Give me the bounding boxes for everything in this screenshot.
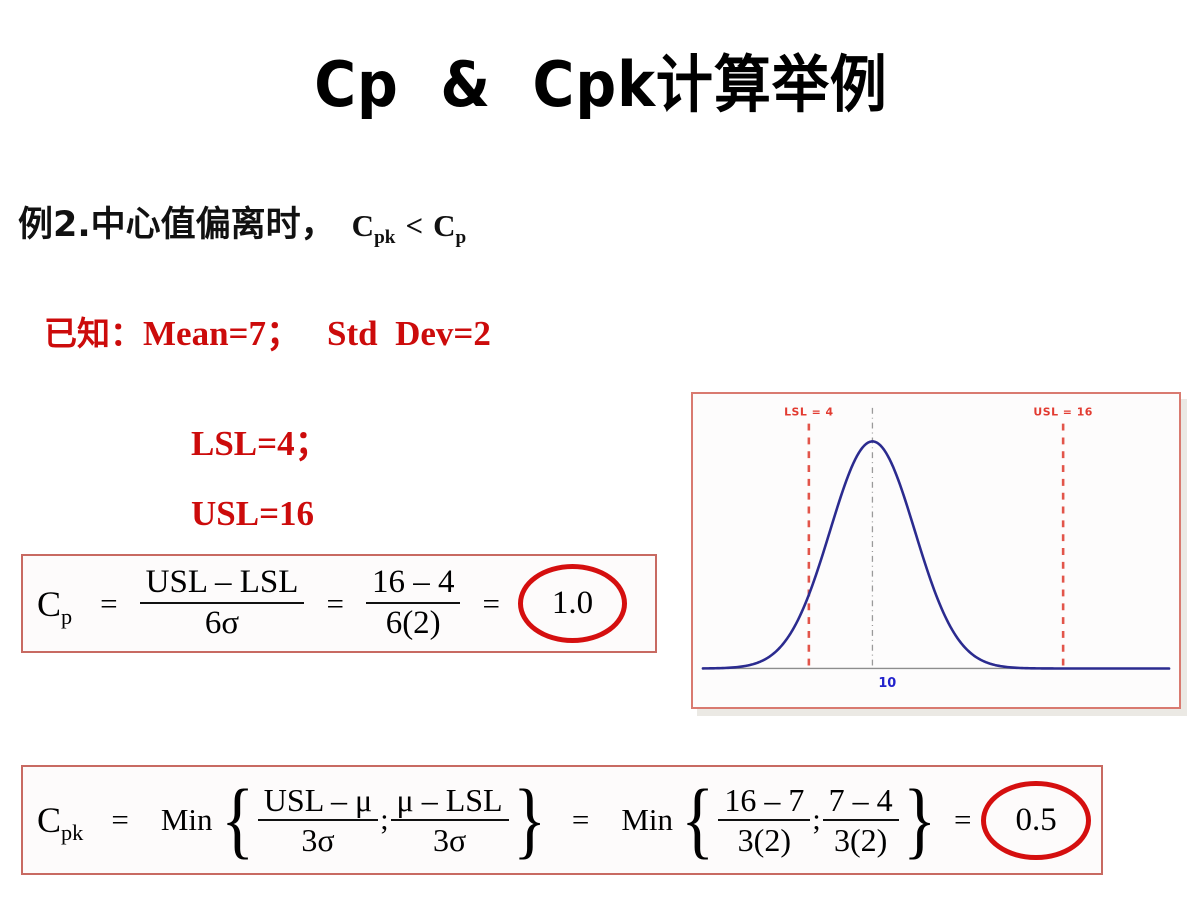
cp-result-circled: 1.0 — [522, 579, 623, 628]
cp-subscript: p — [456, 227, 467, 248]
equals-sign-1: = — [78, 586, 139, 622]
brace-close-2: } — [903, 789, 936, 851]
cpk-formula-box: Cpk = Min { USL – μ 3σ ; μ – LSL 3σ } = … — [21, 765, 1103, 875]
brace-open-1: { — [221, 789, 254, 851]
given-lsl: LSL=4； — [191, 424, 330, 463]
given-row-limits: LSL=4； USL=16 — [44, 391, 491, 566]
normal-distribution-chart: LSL = 4 USL = 16 10 — [693, 394, 1179, 707]
brace-close-1: } — [513, 789, 546, 851]
distribution-chart-panel: LSL = 4 USL = 16 10 — [691, 392, 1181, 709]
separator-1: ; — [378, 803, 390, 837]
given-mean: Mean=7； — [143, 316, 301, 351]
cpk-label: Cpk — [23, 799, 89, 841]
cpk-symbol: C — [37, 800, 61, 840]
example-relation: Cpk<Cp — [352, 208, 467, 244]
cpk-denominator-lower-symbolic: 3σ — [391, 819, 509, 858]
cpk-fraction-lower-symbolic: μ – LSL 3σ — [391, 783, 509, 857]
cpk-numerator-lower-symbolic: μ – LSL — [391, 783, 509, 819]
cp-symbol: C — [433, 208, 455, 243]
cp-numerator-numeric: 16 – 4 — [366, 565, 461, 602]
cp-fraction-symbolic: USL – LSL 6σ — [140, 565, 305, 641]
min-operator-1: Min — [151, 802, 217, 838]
cpk-formula-row: Cpk = Min { USL – μ 3σ ; μ – LSL 3σ } = … — [23, 783, 1087, 857]
cpk-symbol: C — [352, 208, 374, 243]
cp-numerator-symbolic: USL – LSL — [140, 565, 305, 602]
separator-2: ; — [810, 803, 822, 837]
cpk-fraction-upper-numeric: 16 – 7 3(2) — [718, 783, 810, 857]
cp-label: Cp — [23, 583, 78, 625]
cp-fraction-numeric: 16 – 4 6(2) — [366, 565, 461, 641]
example-prefix: 例2. — [18, 196, 91, 247]
cpk-result-circled: 0.5 — [985, 796, 1086, 845]
cp-symbol: C — [37, 584, 61, 624]
equals-sign-3: = — [460, 586, 521, 622]
cp-formula-row: Cp = USL – LSL 6σ = 16 – 4 6(2) = 1.0 — [23, 565, 623, 641]
cpk-numerator-upper-symbolic: USL – μ — [258, 783, 378, 819]
cpk-subscript: pk — [374, 227, 395, 248]
equals-sign-2: = — [550, 802, 611, 838]
given-std-dev: Std Dev=2 — [327, 316, 491, 351]
cp-subscript: p — [61, 604, 72, 629]
center-axis-label: 10 — [878, 676, 896, 691]
min-operator-2: Min — [611, 802, 677, 838]
usl-label: USL = 16 — [1033, 406, 1093, 419]
cpk-numerator-lower-numeric: 7 – 4 — [823, 783, 899, 819]
brace-open-2: { — [681, 789, 714, 851]
example-text: 中心值偏离时， — [91, 196, 336, 247]
cpk-denominator-lower-numeric: 3(2) — [823, 819, 899, 858]
cpk-subscript: pk — [61, 820, 83, 845]
cp-formula-box: Cp = USL – LSL 6σ = 16 – 4 6(2) = 1.0 — [21, 554, 657, 653]
given-values-block: 已知： Mean=7； Std Dev=2 LSL=4； USL=16 — [44, 316, 491, 566]
equals-sign-2: = — [304, 586, 365, 622]
example-heading: 例2. 中心值偏离时， Cpk<Cp — [18, 196, 466, 247]
cp-denominator-symbolic: 6σ — [140, 602, 305, 642]
less-than-operator: < — [395, 208, 433, 243]
equals-sign-3: = — [940, 802, 985, 838]
cpk-denominator-upper-numeric: 3(2) — [718, 819, 810, 858]
given-row-mean-std: 已知： Mean=7； Std Dev=2 — [44, 316, 491, 351]
equals-sign-1: = — [89, 802, 150, 838]
page-title: Cp & Cpk计算举例 — [48, 52, 1154, 117]
normal-curve — [703, 441, 1169, 668]
cp-denominator-numeric: 6(2) — [366, 602, 461, 642]
cpk-numerator-upper-numeric: 16 – 7 — [718, 783, 810, 819]
given-label: 已知： — [44, 317, 143, 350]
lsl-label: LSL = 4 — [784, 406, 834, 419]
cpk-fraction-lower-numeric: 7 – 4 3(2) — [823, 783, 899, 857]
cpk-fraction-upper-symbolic: USL – μ 3σ — [258, 783, 378, 857]
given-usl: USL=16 — [191, 494, 314, 533]
cpk-denominator-upper-symbolic: 3σ — [258, 819, 378, 858]
